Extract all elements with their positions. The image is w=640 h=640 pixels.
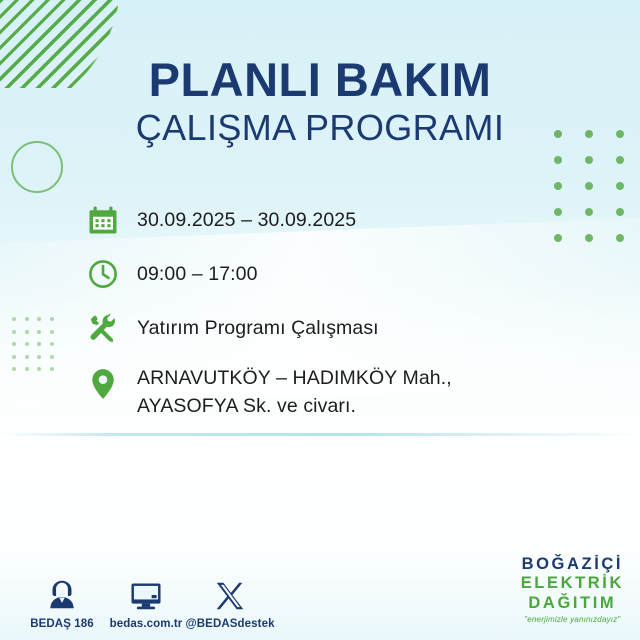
work-type-value: Yatırım Programı Çalışması bbox=[137, 311, 379, 343]
contact-item-website[interactable]: bedas.com.tr bbox=[104, 577, 188, 630]
info-row-work-type: Yatırım Programı Çalışması bbox=[86, 311, 566, 345]
info-row-location: ARNAVUTKÖY – HADIMKÖY Mah., AYASOFYA Sk.… bbox=[86, 365, 566, 420]
location-value: ARNAVUTKÖY – HADIMKÖY Mah., AYASOFYA Sk.… bbox=[137, 365, 452, 420]
tools-icon bbox=[86, 311, 120, 345]
info-rows: 30.09.2025 – 30.09.2025 09:00 – 17:00 bbox=[86, 203, 566, 440]
contact-label-x: @BEDASdestek bbox=[185, 618, 274, 630]
clock-icon bbox=[86, 257, 120, 291]
poster-title-block: PLANLI BAKIM ÇALIŞMA PROGRAMI bbox=[0, 56, 640, 148]
date-range-value: 30.09.2025 – 30.09.2025 bbox=[137, 203, 356, 235]
dot-grid-right-decoration bbox=[554, 130, 640, 260]
contact-label-website: bedas.com.tr bbox=[110, 618, 183, 630]
planned-maintenance-poster: PLANLI BAKIM ÇALIŞMA PROGRAMI bbox=[0, 0, 640, 640]
logo-line-1: BOĞAZİÇİ bbox=[521, 556, 624, 573]
dot-grid-left-decoration bbox=[12, 317, 62, 380]
map-pin-icon bbox=[86, 365, 120, 401]
location-line-1: ARNAVUTKÖY – HADIMKÖY Mah., bbox=[137, 367, 452, 389]
contact-item-phone[interactable]: BEDAŞ 186 bbox=[20, 577, 104, 630]
headset-support-icon bbox=[47, 577, 77, 611]
page-subtitle: ÇALIŞMA PROGRAMI bbox=[0, 109, 640, 148]
logo-line-3: DAĞITIM bbox=[521, 595, 624, 612]
circle-outline-decoration bbox=[11, 141, 63, 193]
info-row-time: 09:00 – 17:00 bbox=[86, 257, 566, 291]
monitor-website-icon bbox=[130, 577, 162, 611]
location-line-2: AYASOFYA Sk. ve civarı. bbox=[137, 395, 356, 417]
contact-group: BEDAŞ 186 bedas.com.tr bbox=[20, 577, 272, 630]
page-title: PLANLI BAKIM bbox=[0, 56, 640, 105]
info-row-date: 30.09.2025 – 30.09.2025 bbox=[86, 203, 566, 237]
contact-label-phone: BEDAŞ 186 bbox=[30, 618, 94, 630]
calendar-icon bbox=[86, 203, 120, 237]
poster-footer: BEDAŞ 186 bedas.com.tr bbox=[0, 554, 640, 640]
contact-item-x[interactable]: @BEDASdestek bbox=[188, 577, 272, 630]
logo-tagline: "enerjimizle yanınızdayız" bbox=[521, 616, 624, 624]
logo-line-2: ELEKTRİK bbox=[521, 575, 624, 592]
x-twitter-icon bbox=[215, 577, 245, 611]
time-range-value: 09:00 – 17:00 bbox=[137, 257, 258, 289]
bedas-logo: BOĞAZİÇİ ELEKTRİK DAĞITIM "enerjimizle y… bbox=[521, 556, 624, 625]
